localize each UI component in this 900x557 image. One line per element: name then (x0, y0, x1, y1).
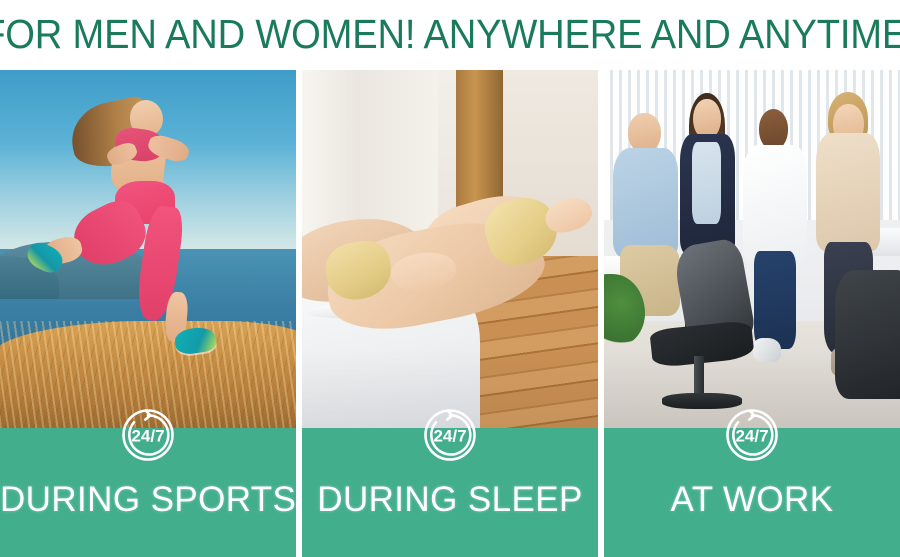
badge-24-7-during-sports: 24/7 (117, 403, 179, 465)
headline-text: FOR MEN AND WOMEN! ANYWHERE AND ANYTIME! (0, 12, 900, 56)
promo-banner: FOR MEN AND WOMEN! ANYWHERE AND ANYTIME! (0, 0, 900, 557)
clock-refresh-24-7-icon: 24/7 (721, 403, 783, 465)
panel-label-during-sleep: DURING SLEEP (302, 480, 598, 520)
photo-during-sleep (302, 70, 598, 428)
runner-figure (0, 70, 296, 428)
feature-panel-row: DURING SPORTS 24/7 (0, 70, 900, 557)
badge-24-7-text-during-sleep: 24/7 (433, 427, 466, 446)
feature-panel-during-sleep[interactable]: DURING SLEEP 24/7 (302, 70, 598, 557)
feature-panel-during-sports[interactable]: DURING SPORTS 24/7 (0, 70, 296, 557)
banner-headline: FOR MEN AND WOMEN! ANYWHERE AND ANYTIME! (0, 6, 900, 62)
panel-label-at-work: AT WORK (604, 480, 900, 520)
badge-24-7-text-at-work: 24/7 (735, 427, 768, 446)
badge-24-7-at-work: 24/7 (721, 403, 783, 465)
badge-24-7-during-sleep: 24/7 (419, 403, 481, 465)
badge-24-7-text-during-sports: 24/7 (131, 427, 164, 446)
office-chair (645, 249, 787, 421)
panel-label-during-sports: DURING SPORTS (0, 480, 296, 520)
clock-refresh-24-7-icon: 24/7 (117, 403, 179, 465)
photo-at-work (604, 70, 900, 428)
photo-during-sports (0, 70, 296, 428)
clock-refresh-24-7-icon: 24/7 (419, 403, 481, 465)
feature-panel-at-work[interactable]: AT WORK 24/7 (604, 70, 900, 557)
